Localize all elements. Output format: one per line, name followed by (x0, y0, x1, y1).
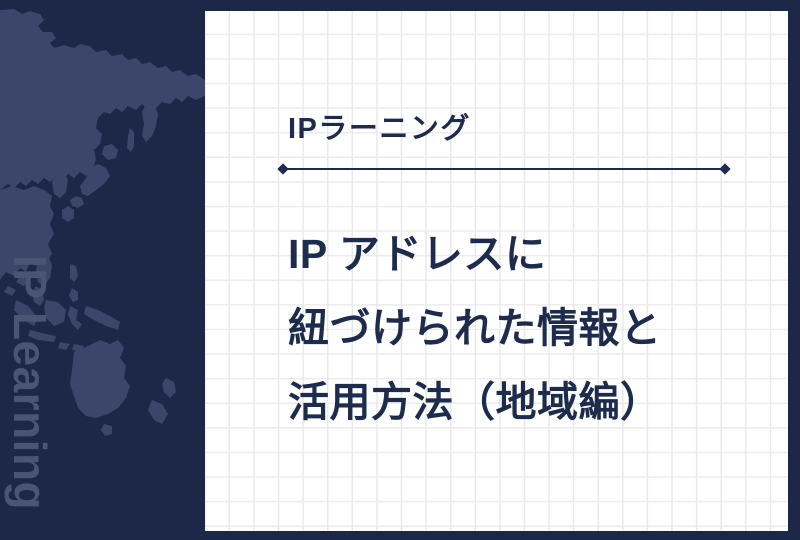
kicker-label: IPラーニング (288, 105, 471, 147)
title-line-2: 紐づけられた情報と (288, 291, 768, 365)
divider-rule (280, 168, 728, 170)
asia-pacific-map-icon (0, 0, 205, 540)
page-title: IP アドレスに 紐づけられた情報と 活用方法（地域編） (288, 217, 768, 439)
slide-canvas: IPラーニング IP アドレスに 紐づけられた情報と 活用方法（地域編） (0, 0, 800, 540)
title-line-3: 活用方法（地域編） (288, 365, 768, 439)
divider-dot-right-icon (719, 163, 730, 174)
content-area: IPラーニング IP アドレスに 紐づけられた情報と 活用方法（地域編） (205, 11, 788, 531)
title-divider (280, 163, 728, 175)
left-brand-panel: IP Learning (0, 0, 205, 540)
title-line-1: IP アドレスに (288, 217, 768, 291)
